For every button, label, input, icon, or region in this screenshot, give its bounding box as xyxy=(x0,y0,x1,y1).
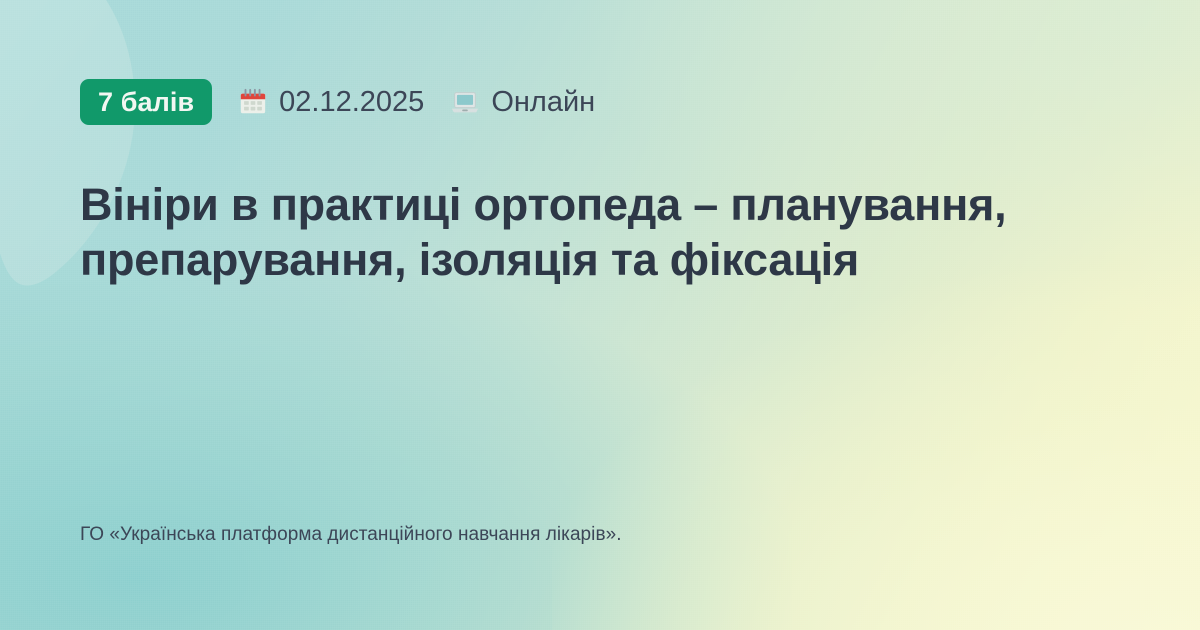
organization-name: ГО «Українська платформа дистанційного н… xyxy=(80,524,622,546)
calendar-icon xyxy=(238,87,268,117)
event-format-value: Онлайн xyxy=(491,86,595,119)
event-promo-card: 7 балів xyxy=(0,0,1200,630)
laptop-icon xyxy=(450,87,480,117)
credits-badge: 7 балів xyxy=(80,79,212,125)
event-date: 02.12.2025 xyxy=(238,86,424,119)
event-date-value: 02.12.2025 xyxy=(279,86,424,119)
card-content: 7 балів xyxy=(80,0,1120,630)
meta-row: 7 балів xyxy=(80,78,595,126)
event-title: Вініри в практиці ортопеда – планування,… xyxy=(80,178,1090,288)
event-format: Онлайн xyxy=(450,86,595,119)
